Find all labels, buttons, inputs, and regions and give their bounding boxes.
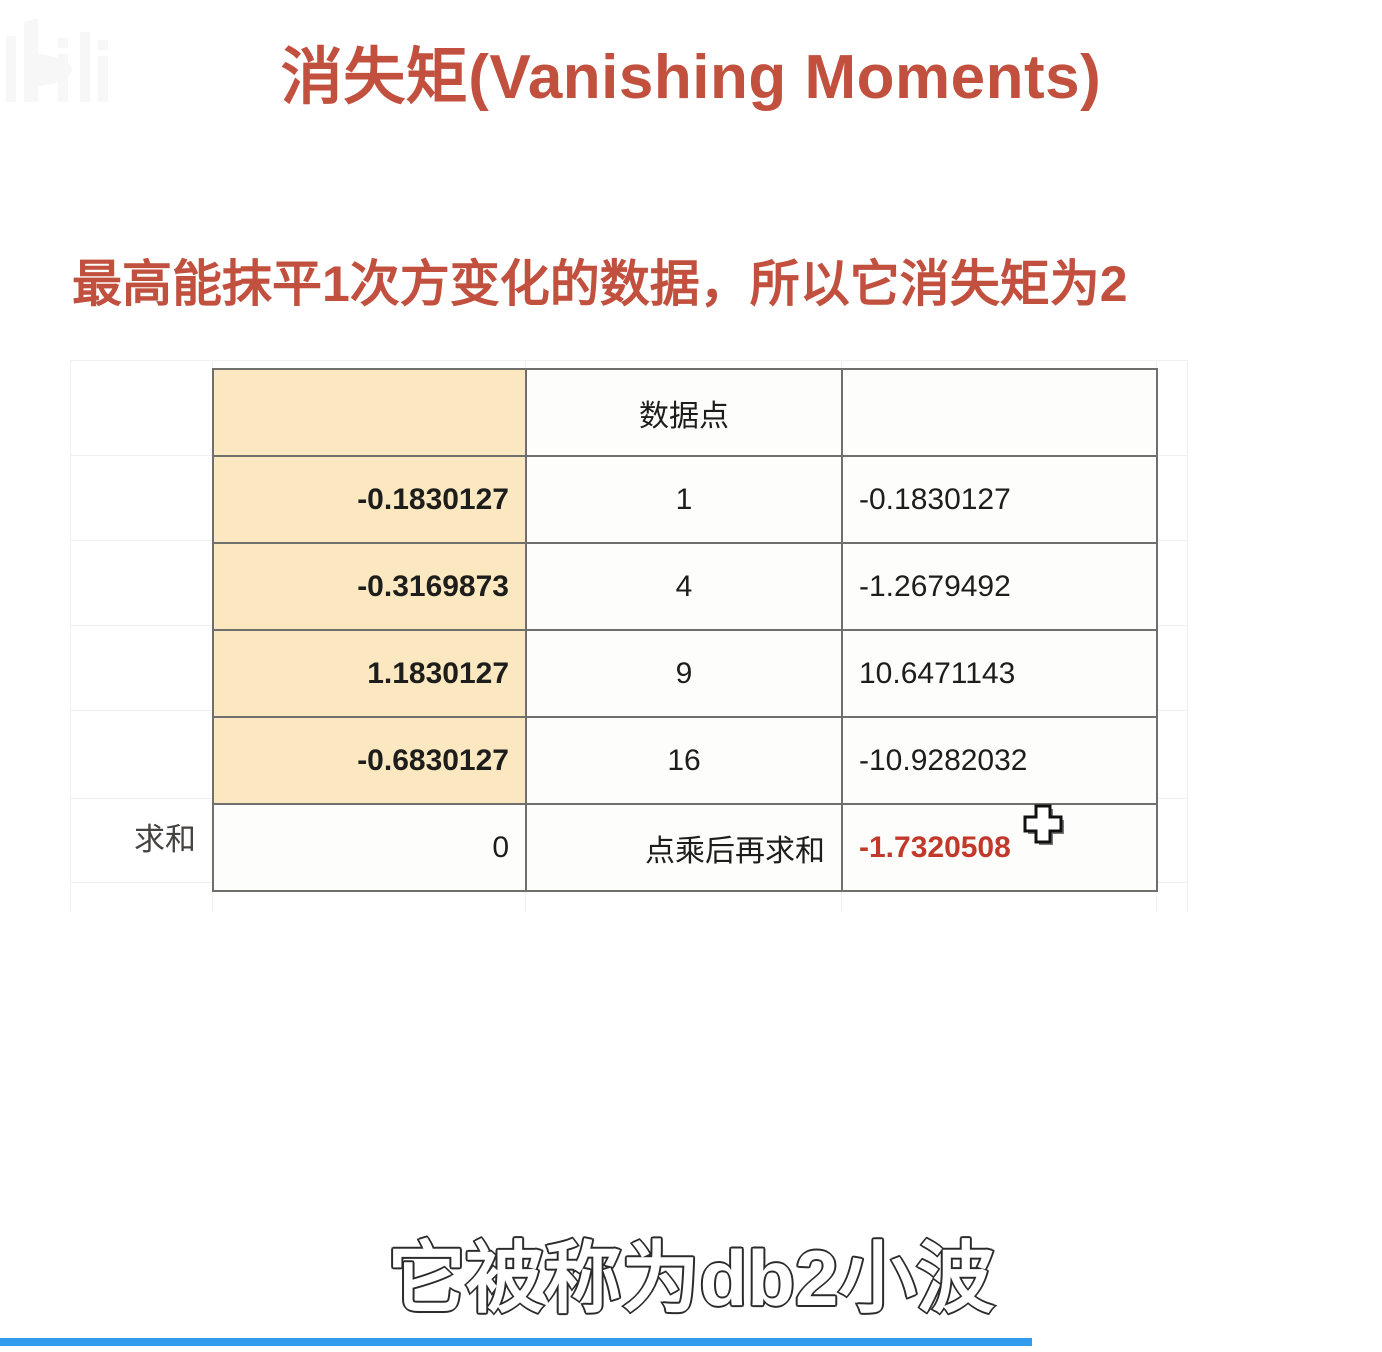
progress-bar-track[interactable]	[0, 1338, 1382, 1346]
grid-vline	[70, 360, 71, 912]
cell-product[interactable]: 10.6471143	[842, 630, 1157, 717]
header-cell-coefficient[interactable]	[213, 369, 526, 456]
cell-dot-product-sum-label[interactable]: 点乘后再求和	[526, 804, 842, 891]
cell-coefficient[interactable]: -0.3169873	[213, 543, 526, 630]
cell-data-point[interactable]: 4	[526, 543, 842, 630]
table-header-row: 数据点	[213, 369, 1157, 456]
video-caption: 它被称为db2小波	[0, 1238, 1382, 1320]
cell-product[interactable]: -0.1830127	[842, 456, 1157, 543]
subtitle-statement: 最高能抹平1次方变化的数据，所以它消失矩为2	[72, 256, 1342, 314]
cell-data-point[interactable]: 16	[526, 717, 842, 804]
cell-coefficient[interactable]: 1.1830127	[213, 630, 526, 717]
cell-coefficient[interactable]: -0.6830127	[213, 717, 526, 804]
table-row: -0.1830127 1 -0.1830127	[213, 456, 1157, 543]
vanishing-moments-table[interactable]: 数据点 -0.1830127 1 -0.1830127 -0.3169873 4…	[212, 368, 1158, 892]
table-row: 1.1830127 9 10.6471143	[213, 630, 1157, 717]
table-row: -0.3169873 4 -1.2679492	[213, 543, 1157, 630]
page-title: 消失矩(Vanishing Moments)	[0, 44, 1382, 112]
grid-vline	[1187, 360, 1188, 912]
progress-bar-fill[interactable]	[0, 1338, 1032, 1346]
cell-product[interactable]: -1.2679492	[842, 543, 1157, 630]
video-frame: 消失矩(Vanishing Moments) 最高能抹平1次方变化的数据，所以它…	[0, 0, 1382, 1352]
cell-dot-product-sum-value[interactable]: -1.7320508	[842, 804, 1157, 891]
cell-data-point[interactable]: 9	[526, 630, 842, 717]
row-label-sum: 求和	[72, 798, 204, 882]
header-cell-data-point[interactable]: 数据点	[526, 369, 842, 456]
cell-coefficient-sum[interactable]: 0	[213, 804, 526, 891]
cell-data-point[interactable]: 1	[526, 456, 842, 543]
table-row: -0.6830127 16 -10.9282032	[213, 717, 1157, 804]
header-cell-product[interactable]	[842, 369, 1157, 456]
cell-coefficient[interactable]: -0.1830127	[213, 456, 526, 543]
grid-hline	[70, 360, 1188, 361]
cell-product[interactable]: -10.9282032	[842, 717, 1157, 804]
table-sum-row: 0 点乘后再求和 -1.7320508	[213, 804, 1157, 891]
